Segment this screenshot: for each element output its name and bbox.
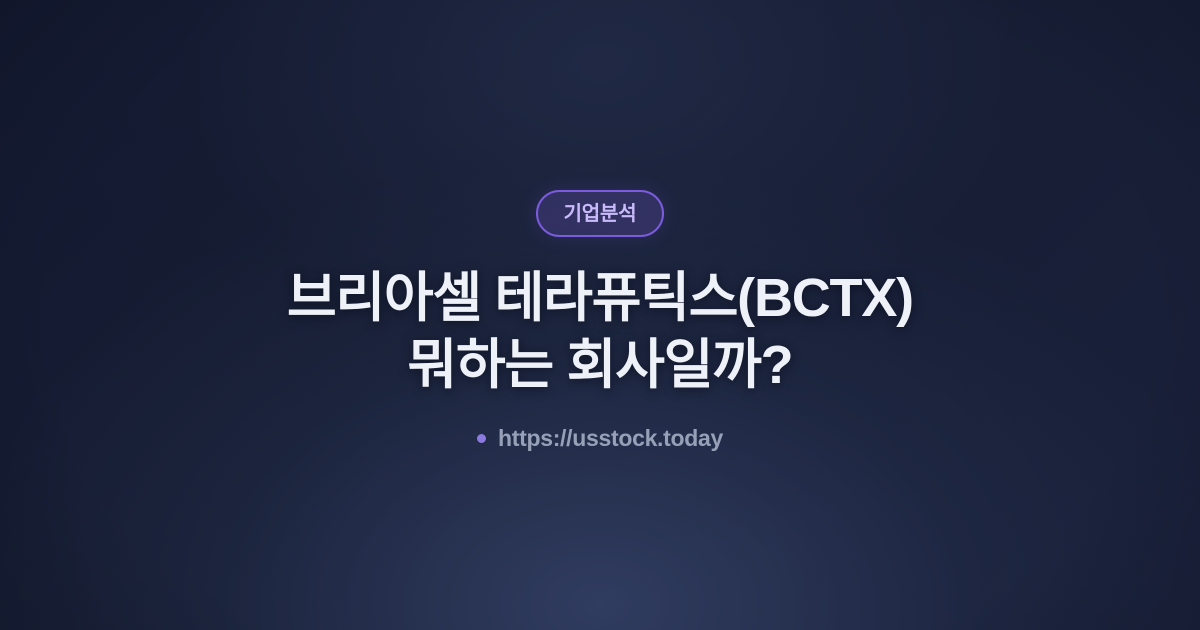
page-title: 브리아셀 테라퓨틱스(BCTX) 뭐하는 회사일까? [80,265,1120,399]
dot-icon [477,434,486,443]
category-badge: 기업분석 [536,190,665,237]
page-title-line-2: 뭐하는 회사일까? [80,332,1120,399]
page-title-line-1: 브리아셀 테라퓨틱스(BCTX) [80,265,1120,332]
og-share-card: 기업분석 브리아셀 테라퓨틱스(BCTX) 뭐하는 회사일까? https://… [0,0,1200,630]
card-content: 기업분석 브리아셀 테라퓨틱스(BCTX) 뭐하는 회사일까? https://… [0,0,1200,452]
site-url-row: https://usstock.today [477,425,723,452]
category-badge-label: 기업분석 [564,204,637,224]
site-url-label: https://usstock.today [498,425,723,452]
